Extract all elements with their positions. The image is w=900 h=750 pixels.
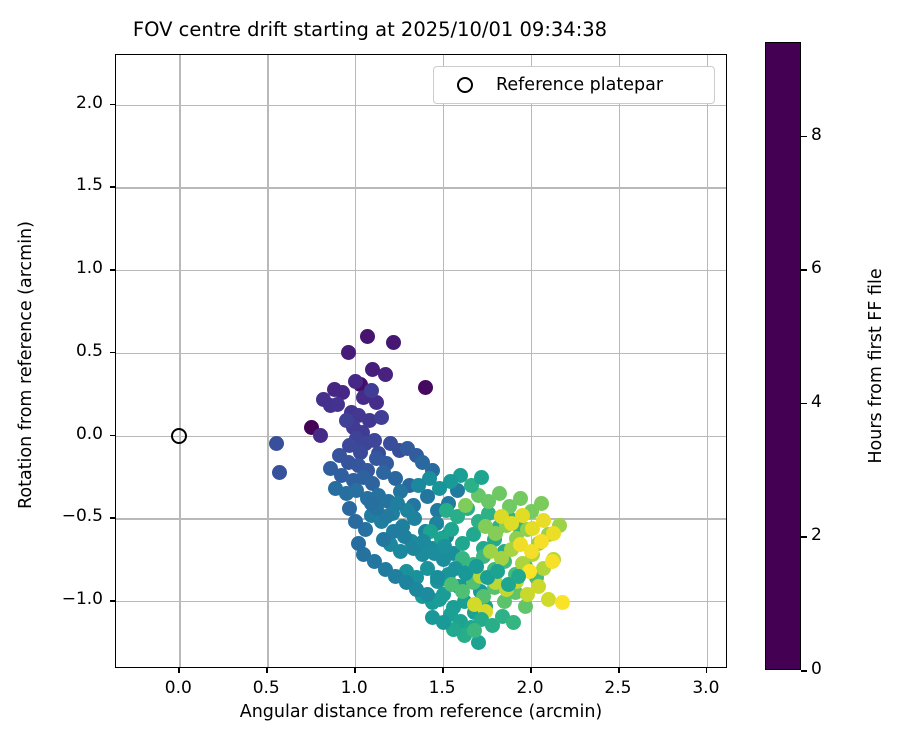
scatter-point (348, 514, 363, 529)
scatter-point (390, 496, 405, 511)
colorbar-tick-mark (801, 403, 807, 405)
legend-marker-box (434, 77, 496, 93)
x-tick-label: 3.0 (671, 678, 741, 698)
colorbar-tick-mark (801, 670, 807, 672)
scatter-point (444, 522, 459, 537)
scatter-point (341, 345, 356, 360)
scatter-point (351, 536, 366, 551)
figure-root: FOV centre drift starting at 2025/10/01 … (0, 0, 900, 750)
scatter-point (541, 592, 556, 607)
x-tick-mark (354, 668, 356, 673)
colorbar-tick-label: 0 (811, 659, 822, 679)
plot-axes (115, 54, 727, 668)
scatter-point (348, 374, 363, 389)
colorbar-tick-label: 6 (811, 258, 822, 278)
x-tick-mark (706, 668, 708, 673)
y-tick-label: 2.0 (33, 93, 103, 113)
y-axis-label: Rotation from reference (arcmin) (16, 58, 36, 672)
scatter-point (418, 380, 433, 395)
y-tick-label: 0.0 (33, 424, 103, 444)
y-tick-label: 1.5 (33, 175, 103, 195)
y-tick-mark (110, 435, 115, 437)
colorbar-tick-label: 8 (811, 125, 822, 145)
x-tick-label: 0.0 (143, 678, 213, 698)
scatter-point (420, 587, 435, 602)
x-tick-mark (442, 668, 444, 673)
x-tick-mark (618, 668, 620, 673)
scatter-point (534, 496, 549, 511)
scatter-point (490, 564, 505, 579)
scatter-point (474, 470, 489, 485)
colorbar-label: Hours from first FF file (866, 52, 886, 680)
reference-platepar-marker (171, 428, 187, 444)
scatter-point (269, 436, 284, 451)
y-tick-mark (110, 352, 115, 354)
scatter-points-layer (116, 55, 726, 667)
scatter-point (534, 534, 549, 549)
scatter-point (536, 513, 551, 528)
y-tick-label: 0.5 (33, 341, 103, 361)
y-tick-mark (110, 269, 115, 271)
x-tick-mark (178, 668, 180, 673)
legend: Reference platepar (433, 66, 715, 104)
legend-item-label: Reference platepar (496, 75, 663, 95)
scatter-point (313, 428, 328, 443)
scatter-point (513, 491, 528, 506)
colorbar-tick-label: 4 (811, 392, 822, 412)
y-tick-mark (110, 104, 115, 106)
scatter-point (515, 508, 530, 523)
colorbar-tick-mark (801, 536, 807, 538)
scatter-point (330, 397, 345, 412)
x-tick-label: 1.0 (319, 678, 389, 698)
x-tick-mark (266, 668, 268, 673)
colorbar-tick-mark (801, 269, 807, 271)
scatter-point (492, 486, 507, 501)
open-circle-icon (457, 77, 473, 93)
page-title: FOV centre drift starting at 2025/10/01 … (0, 18, 740, 41)
x-axis-label: Angular distance from reference (arcmin) (115, 702, 727, 722)
x-tick-label: 2.0 (495, 678, 565, 698)
scatter-point (360, 329, 375, 344)
y-tick-mark (110, 600, 115, 602)
scatter-point (378, 367, 393, 382)
scatter-point (506, 615, 521, 630)
scatter-point (364, 496, 379, 511)
x-tick-label: 0.5 (231, 678, 301, 698)
x-tick-mark (530, 668, 532, 673)
scatter-point (364, 383, 379, 398)
scatter-point (555, 595, 570, 610)
colorbar-tick-label: 2 (811, 525, 822, 545)
scatter-point (272, 465, 287, 480)
scatter-point (386, 335, 401, 350)
colorbar-gradient (765, 42, 801, 670)
y-tick-mark (110, 186, 115, 188)
y-tick-label: 1.0 (33, 258, 103, 278)
scatter-point (411, 478, 426, 493)
scatter-point (545, 554, 560, 569)
x-tick-label: 2.5 (583, 678, 653, 698)
colorbar-tick-mark (801, 136, 807, 138)
scatter-point (531, 579, 546, 594)
scatter-point (374, 410, 389, 425)
y-tick-label: −1.0 (33, 589, 103, 609)
colorbar (765, 42, 801, 670)
scatter-point (511, 569, 526, 584)
y-tick-mark (110, 517, 115, 519)
y-tick-label: −0.5 (33, 506, 103, 526)
scatter-point (436, 615, 451, 630)
x-tick-label: 1.5 (407, 678, 477, 698)
